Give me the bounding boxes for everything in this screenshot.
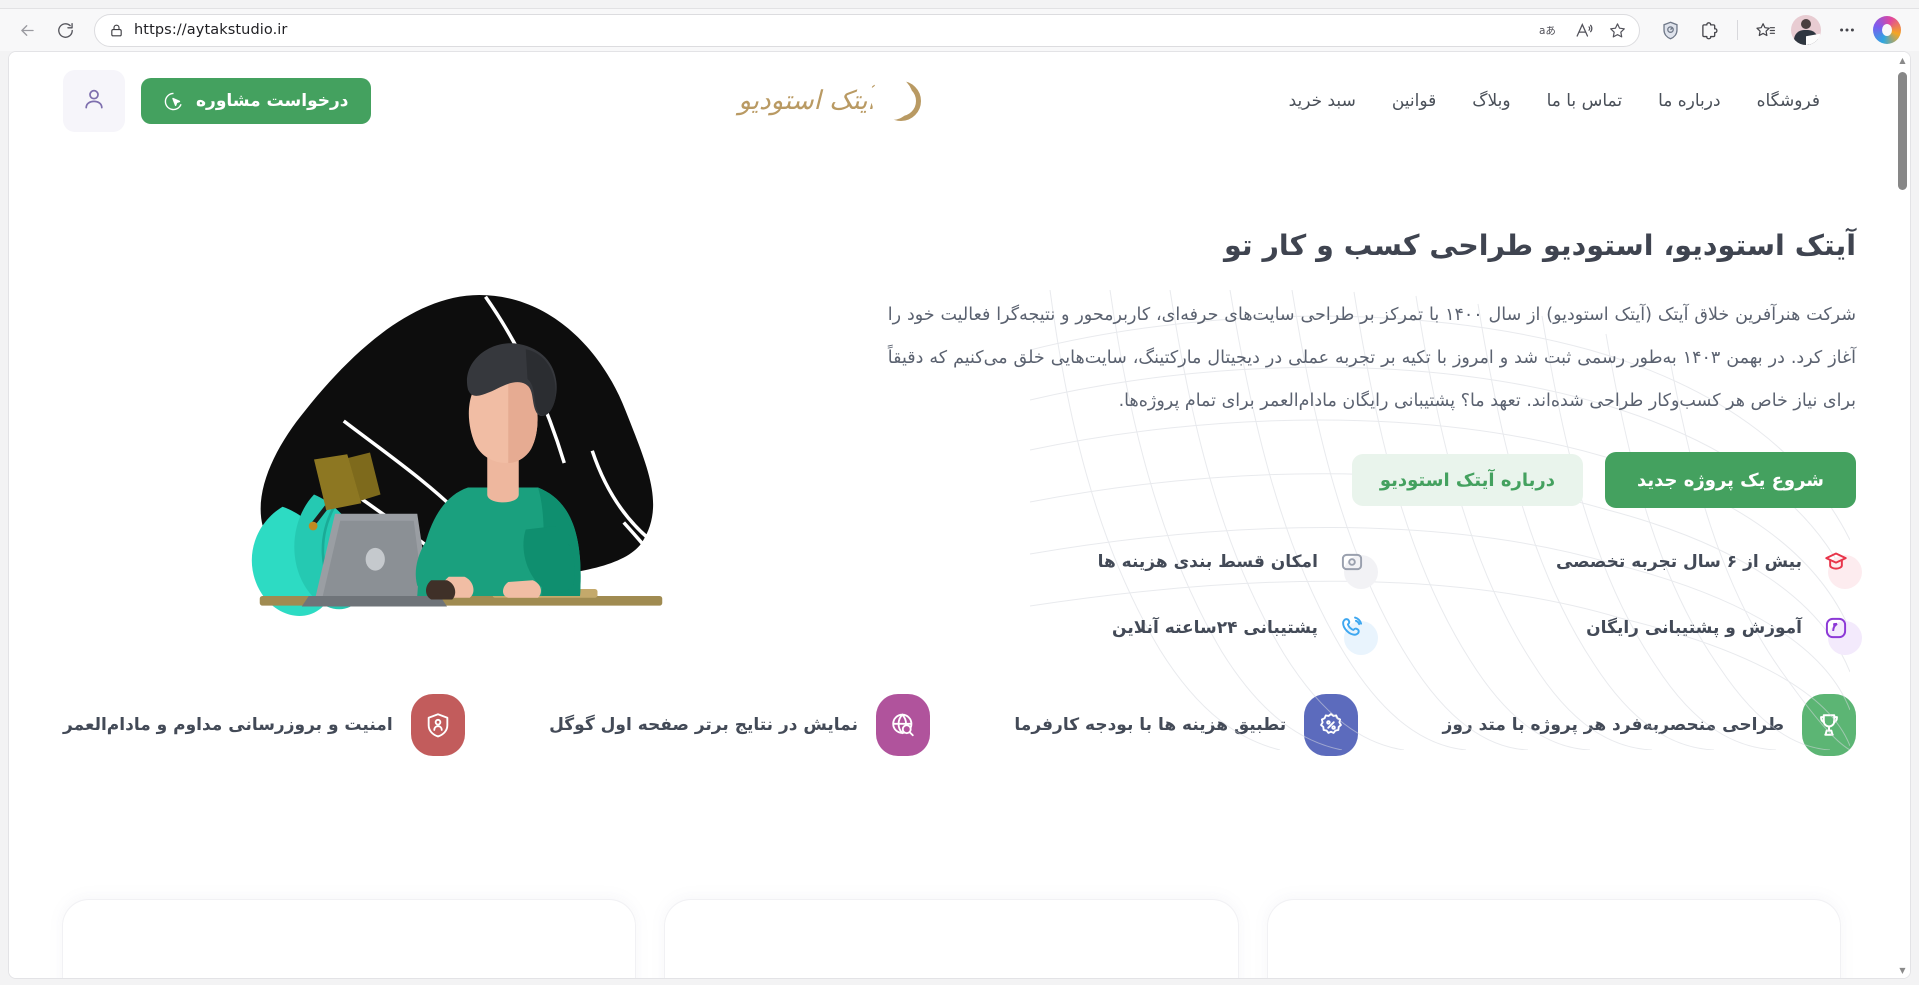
scroll-down-arrow[interactable]: ▼ [1899,962,1905,978]
stat-label: نمایش در نتایج برتر صفحه اول گوگل [549,715,858,735]
hero-description: شرکت هنرآفرین خلاق آیتک (آیتک استودیو) ا… [888,294,1856,423]
browser-toolbar: https://aytakstudio.ir aあ [0,9,1919,51]
user-icon [81,86,107,116]
url-text: https://aytakstudio.ir [134,22,1533,38]
refresh-button[interactable] [48,13,82,47]
back-button[interactable] [10,13,44,47]
copilot-glyph [1873,16,1901,44]
shield-icon[interactable] [1652,13,1688,47]
trophy-icon [1802,694,1856,756]
stat-label: طراحی منحصربه‌فرد هر پروژه با متد روز [1443,715,1784,735]
stat-label: تطبیق هزینه ها با بودجه کارفرما [1014,715,1286,735]
header-actions: درخواست مشاوره [63,70,370,132]
site-logo[interactable]: آیتک استودیو [738,81,920,121]
hero-feature-list: بیش از ۶ سال تجربه تخصصی امکان قسط بندی [888,542,1856,648]
nav-item-about[interactable]: درباره ما [1658,91,1721,111]
page-viewport: فروشگاه درباره ما تماس با ما وبلاگ قوانی… [8,51,1911,979]
feature-label: پشتیبانی ۲۴ساعته آنلاین [1112,618,1318,638]
collections-icon[interactable] [1747,13,1783,47]
benefits-strip: طراحی منحصربه‌فرد هر پروژه با متد روز تط… [9,648,1910,756]
page-title: آیتک استودیو، استودیو طراحی کسب و کار تو [888,225,1856,268]
feature-label: آموزش و پشتیبانی رایگان [1586,618,1802,638]
address-bar[interactable]: https://aytakstudio.ir aあ [94,14,1640,47]
about-aytak-studio-button[interactable]: درباره آیتک استودیو [1352,454,1583,506]
hero-section: آیتک استودیو، استودیو طراحی کسب و کار تو… [9,150,1910,648]
preview-card[interactable] [1268,900,1840,978]
website-page: فروشگاه درباره ما تماس با ما وبلاگ قوانی… [9,52,1910,978]
nav-item-contact[interactable]: تماس با ما [1547,91,1623,111]
site-header: فروشگاه درباره ما تماس با ما وبلاگ قوانی… [9,52,1910,150]
hero-illustration [63,195,888,648]
settings-and-more-icon[interactable] [1829,13,1865,47]
main-navigation: فروشگاه درباره ما تماس با ما وبلاگ قوانی… [1289,91,1820,111]
scroll-up-arrow[interactable]: ▲ [1899,52,1905,68]
feature-item-free-training: آموزش و پشتیبانی رایگان [1372,608,1856,648]
tab-strip [0,0,1919,9]
nav-item-shop[interactable]: فروشگاه [1757,91,1820,111]
logo-text: آیتک استودیو [738,86,874,116]
stat-label: امنیت و بروزرسانی مداوم و مادام‌العمر [63,715,393,735]
credit-card-icon [1332,542,1372,582]
feature-item-installments: امکان قسط بندی هزینه ها [888,542,1372,582]
preview-card[interactable] [665,900,1237,978]
nav-item-cart[interactable]: سبد خرید [1289,91,1356,111]
graduation-cap-icon [1816,542,1856,582]
translate-icon[interactable]: aあ [1533,15,1565,45]
person-working-on-laptop-illustration [220,288,730,638]
headset-badge-icon [1816,608,1856,648]
account-button[interactable] [63,70,125,132]
favorites-star-icon[interactable] [1601,15,1633,45]
crescent-moon-icon [881,81,921,121]
nav-item-blog[interactable]: وبلاگ [1472,91,1510,111]
feature-label: بیش از ۶ سال تجربه تخصصی [1556,552,1802,572]
scrollbar-track[interactable] [1895,68,1910,962]
extensions-icon[interactable] [1692,13,1728,47]
next-section-cards-preview [63,900,1840,978]
request-consultation-button[interactable]: درخواست مشاوره [141,78,370,124]
start-new-project-button[interactable]: شروع یک پروژه جدید [1605,452,1856,508]
page-scrollbar[interactable]: ▲ ▼ [1895,52,1910,978]
discount-badge-icon [1304,694,1358,756]
browser-window: https://aytakstudio.ir aあ [0,0,1919,985]
nav-item-terms[interactable]: قوانین [1392,91,1436,111]
profile-avatar[interactable] [1791,15,1821,45]
feature-item-experience: بیش از ۶ سال تجربه تخصصی [1372,542,1856,582]
copilot-icon[interactable] [1869,13,1905,47]
read-aloud-icon[interactable] [1567,15,1599,45]
hero-cta-group: شروع یک پروژه جدید درباره آیتک استودیو [888,452,1856,508]
globe-search-icon [876,694,930,756]
stat-item-budget-fit: تطبیق هزینه ها با بودجه کارفرما [1014,694,1358,756]
stat-item-google-ranking: نمایش در نتایج برتر صفحه اول گوگل [549,694,930,756]
toolbar-divider [1737,20,1738,40]
lock-icon [109,23,124,38]
hero-text-block: آیتک استودیو، استودیو طراحی کسب و کار تو… [888,195,1856,648]
preview-card[interactable] [63,900,635,978]
consult-label: درخواست مشاوره [196,91,348,111]
stat-item-security-updates: امنیت و بروزرسانی مداوم و مادام‌العمر [63,694,465,756]
feature-label: امکان قسط بندی هزینه ها [1098,552,1318,572]
cursor-click-icon [163,91,184,112]
svg-text:aあ: aあ [1539,25,1556,37]
feature-item-24h-support: پشتیبانی ۲۴ساعته آنلاین [888,608,1372,648]
shield-user-icon [411,694,465,756]
avatar-head [1801,19,1811,29]
stat-item-unique-design: طراحی منحصربه‌فرد هر پروژه با متد روز [1443,694,1856,756]
scrollbar-thumb[interactable] [1898,72,1907,190]
phone-call-icon [1332,608,1372,648]
